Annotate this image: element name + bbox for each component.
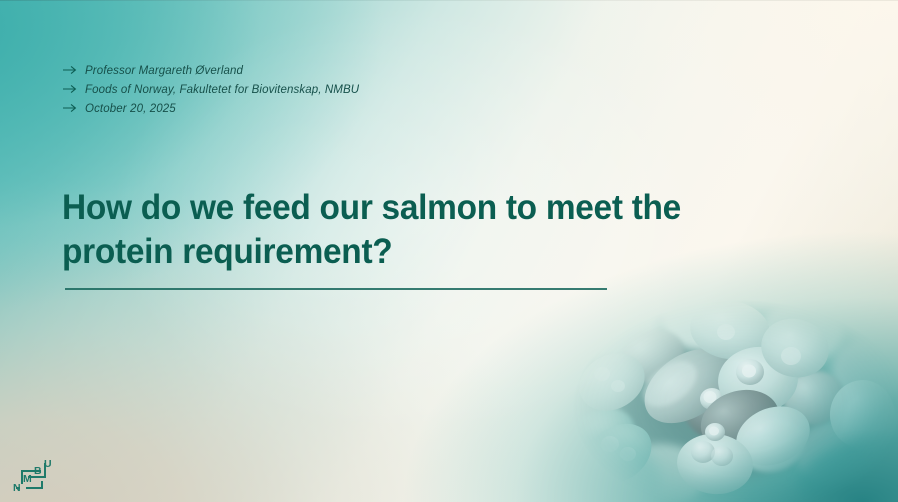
arrow-right-icon <box>63 97 85 112</box>
svg-text:M: M <box>23 473 32 485</box>
meta-row-presenter: Professor Margareth Øverland <box>63 59 483 78</box>
meta-date: October 20, 2025 <box>85 100 176 119</box>
title-underline-rule <box>65 288 607 290</box>
presentation-slide: Professor Margareth Øverland Foods of No… <box>0 0 898 502</box>
svg-text:U: U <box>44 458 52 470</box>
slide-meta-block: Professor Margareth Øverland Foods of No… <box>63 59 483 116</box>
meta-presenter-name: Professor Margareth Øverland <box>85 62 243 81</box>
meta-row-affiliation: Foods of Norway, Fakultetet for Bioviten… <box>63 78 483 97</box>
arrow-right-icon <box>63 78 85 93</box>
top-edge-hairline <box>0 0 898 1</box>
page-title-line-1: How do we feed our salmon to meet the <box>62 186 731 230</box>
svg-text:B: B <box>34 465 42 477</box>
yeast-cells-sem-micrograph <box>540 286 898 502</box>
page-title-line-2: protein requirement? <box>62 230 731 274</box>
meta-affiliation: Foods of Norway, Fakultetet for Bioviten… <box>85 81 359 100</box>
svg-text:N: N <box>13 482 21 494</box>
nmbu-logo: N M B U <box>11 457 57 495</box>
page-title: How do we feed our salmon to meet the pr… <box>62 186 731 274</box>
arrow-right-icon <box>63 59 85 74</box>
